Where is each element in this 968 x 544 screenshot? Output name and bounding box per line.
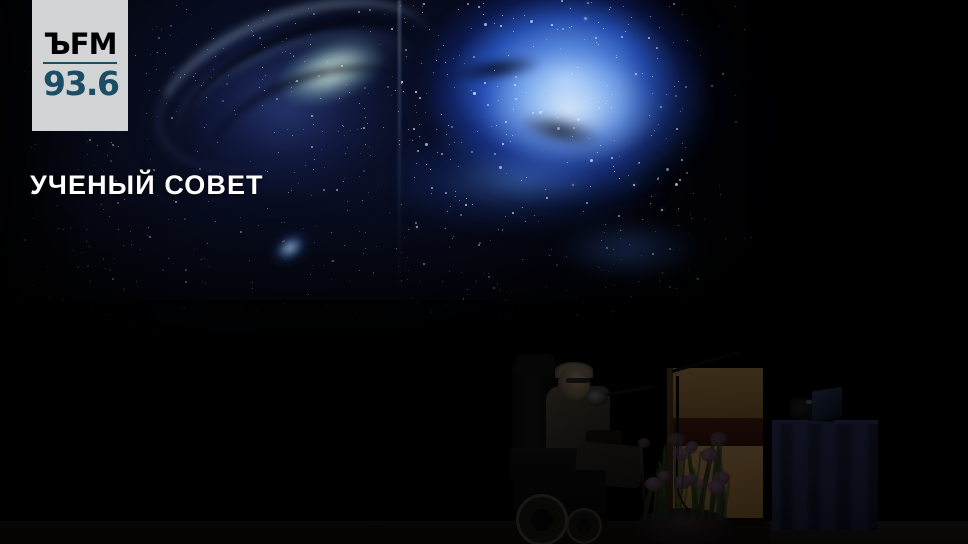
station-logo-inner: ЪFM 93.6	[43, 30, 117, 102]
flower-arrangement	[632, 416, 738, 544]
flower-bloom	[658, 471, 670, 481]
station-logo[interactable]: ЪFM 93.6	[32, 0, 128, 131]
eyeglasses	[566, 378, 590, 383]
draped-table	[772, 424, 878, 530]
speaker-head	[558, 366, 590, 400]
flower-bloom	[685, 474, 697, 484]
station-wordmark: ЪFM	[43, 30, 117, 62]
wheelchair-headrest	[516, 354, 554, 376]
flower-bloom	[668, 433, 685, 447]
promo-banner: ЪFM 93.6 УЧЕНЫЙ СОВЕТ	[0, 0, 968, 544]
flower-bloom	[686, 441, 698, 451]
flower-bloom	[638, 438, 650, 448]
microphone-icon	[586, 390, 608, 406]
laptop-screen	[812, 387, 842, 422]
station-frequency: 93.6	[43, 64, 117, 102]
equipment-highlight	[806, 400, 812, 404]
wheelchair-wheel	[516, 494, 568, 544]
flower-bloom	[672, 447, 689, 461]
stage-photo	[0, 0, 968, 544]
flower-bloom	[710, 432, 727, 446]
wheelchair-caster	[566, 508, 602, 544]
programme-title: УЧЕНЫЙ СОВЕТ	[30, 170, 264, 201]
